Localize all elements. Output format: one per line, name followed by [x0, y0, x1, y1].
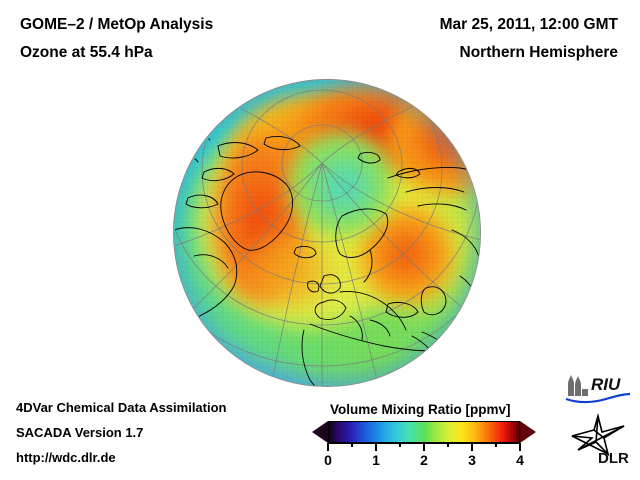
globe-disc — [173, 79, 481, 387]
dlr-logo: DLR — [568, 412, 632, 466]
riu-logo: RIU — [562, 372, 632, 404]
footer-line-version: SACADA Version 1.7 — [16, 425, 143, 440]
colorbar-tick-label: 3 — [468, 452, 476, 468]
colorbar-tick-minor — [399, 443, 401, 447]
colorbar-under-arrow — [312, 421, 328, 443]
map-vector-overlay — [174, 80, 481, 387]
colorbar-tick-label: 1 — [372, 452, 380, 468]
page-title-instrument: GOME–2 / MetOp Analysis — [20, 16, 213, 34]
colorbar-over-arrow — [520, 421, 536, 443]
colorbar-tick-major — [423, 443, 425, 451]
colorbar-tick-minor — [495, 443, 497, 447]
header-region: Northern Hemisphere — [460, 44, 618, 62]
colorbar-tick-major — [375, 443, 377, 451]
colorbar-tick-minor — [447, 443, 449, 447]
page-title-quantity: Ozone at 55.4 hPa — [20, 44, 153, 62]
colorbar-gradient — [328, 421, 520, 443]
footer-line-method: 4DVar Chemical Data Assimilation — [16, 400, 227, 415]
graticule-latitudes — [173, 79, 481, 366]
colorbar-tick-minor — [351, 443, 353, 447]
coastlines — [174, 134, 481, 387]
colorbar-tick-label: 4 — [516, 452, 524, 468]
cologne-cathedral-icon — [568, 375, 588, 396]
colorbar-label: Volume Mixing Ratio [ppmv] — [330, 402, 511, 417]
colorbar-tick-label: 0 — [324, 452, 332, 468]
footer-line-url[interactable]: http://wdc.dlr.de — [16, 450, 116, 465]
colorbar-tick-labels: 01234 — [312, 452, 536, 472]
dlr-logo-text: DLR — [598, 450, 629, 467]
ozone-globe-map — [173, 79, 481, 387]
colorbar-tick-major — [519, 443, 521, 451]
dlr-pinwheel-icon — [572, 416, 624, 454]
header-datetime: Mar 25, 2011, 12:00 GMT — [440, 16, 618, 34]
colorbar-tick-label: 2 — [420, 452, 428, 468]
riu-logo-text: RIU — [591, 375, 621, 394]
colorbar-tick-major — [471, 443, 473, 451]
colorbar-tick-major — [327, 443, 329, 451]
colorbar — [312, 421, 536, 443]
